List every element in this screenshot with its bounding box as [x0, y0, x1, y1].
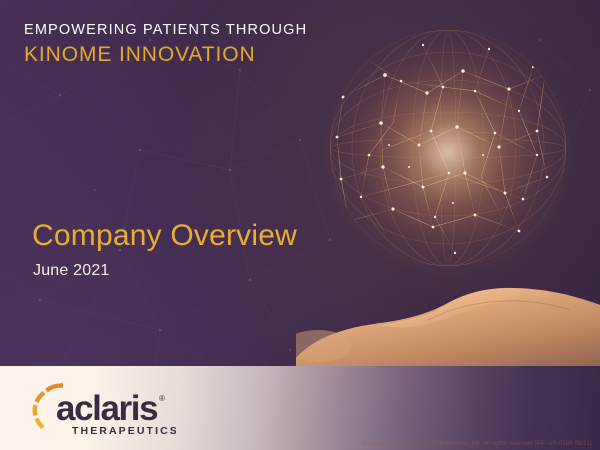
- eyebrow-line-accent: KINOME INNOVATION: [24, 43, 256, 67]
- copyright-notice: Copyright © 2021 Aclaris Therapeutics, I…: [362, 440, 592, 447]
- logo-wordmark: aclaris ®: [56, 389, 165, 428]
- svg-text:®: ®: [159, 394, 165, 403]
- page-title: Company Overview: [32, 219, 297, 253]
- presentation-title-slide: EMPOWERING PATIENTS THROUGH KINOME INNOV…: [0, 0, 600, 450]
- network-sphere-hand-image: [296, 0, 600, 370]
- aclaris-logo[interactable]: aclaris ® THERAPEUTICS: [16, 378, 176, 444]
- logo-tagline: THERAPEUTICS: [72, 425, 176, 437]
- svg-text:aclaris: aclaris: [56, 389, 158, 428]
- deck-date: June 2021: [33, 262, 110, 280]
- open-hand-icon: [296, 196, 600, 370]
- eyebrow-line-primary: EMPOWERING PATIENTS THROUGH: [24, 22, 307, 38]
